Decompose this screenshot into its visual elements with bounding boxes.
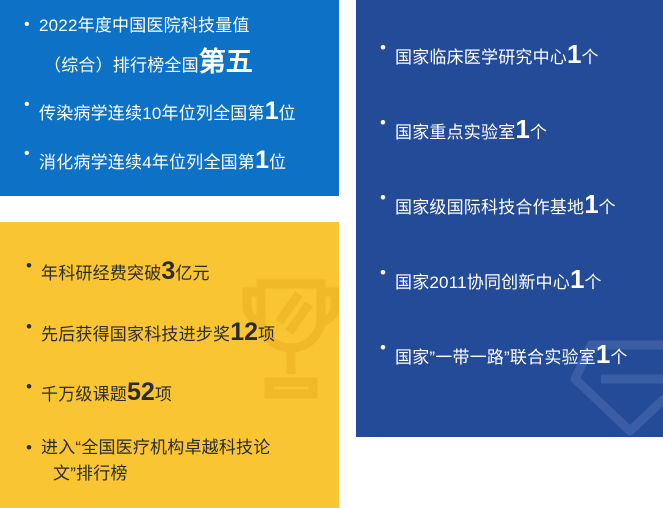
item-text-suffix: 位	[279, 104, 296, 123]
national-platforms-panel: • 国家临床医学研究中心1个 • 国家重点实验室1个 • 国家级国际科技合作基地…	[356, 0, 663, 437]
bullet-icon: •	[380, 36, 386, 60]
item-text-primary: 年科研经费突破	[41, 264, 161, 283]
item-text-suffix: 个	[599, 198, 616, 217]
item-text-primary: 国家”一带一路”联合实验室	[395, 348, 596, 367]
item-text-primary: 国家临床医学研究中心	[395, 48, 567, 67]
bullet-icon: •	[380, 336, 386, 360]
achievements-panel: • 2022年度中国医院科技量值 （综合）排行榜全国第五 • 传染病学连续10年…	[0, 0, 339, 196]
list-item: • 传染病学连续10年位列全国第1位	[22, 94, 339, 130]
item-text-primary: 国家重点实验室	[395, 123, 515, 142]
item-text-primary: 千万级课题	[41, 385, 127, 404]
item-text-suffix: 个	[584, 273, 601, 292]
bullet-icon: •	[24, 94, 30, 117]
item-highlight-value: 12	[230, 318, 258, 346]
list-item: • 进入“全国医疗机构卓越科技论 文”排行榜	[24, 436, 339, 487]
list-item: • 先后获得国家科技进步奖12项	[24, 315, 339, 351]
item-text-primary: 2022年度中国医院科技量值	[39, 16, 250, 35]
item-highlight-value: 1	[584, 189, 598, 219]
list-item: • 千万级课题52项	[24, 375, 339, 411]
list-item: • 消化病学连续4年位列全国第1位	[22, 143, 339, 179]
item-text-primary: 传染病学连续10年位列全国第	[39, 104, 265, 123]
item-text-primary: 国家级国际科技合作基地	[395, 198, 584, 217]
bullet-icon: •	[380, 111, 386, 135]
bullet-icon: •	[26, 436, 32, 460]
bullet-icon: •	[26, 375, 32, 399]
item-text-suffix: 位	[269, 153, 286, 172]
list-item: • 国家”一带一路”联合实验室1个	[378, 336, 663, 373]
research-list: • 年科研经费突破3亿元 • 先后获得国家科技进步奖12项 • 千万级课题52项…	[24, 254, 339, 486]
item-text-primary: 国家2011协同创新中心	[395, 273, 570, 292]
list-item: • 国家重点实验室1个	[378, 111, 663, 148]
research-funding-panel: • 年科研经费突破3亿元 • 先后获得国家科技进步奖12项 • 千万级课题52项…	[0, 222, 339, 508]
bullet-icon: •	[380, 186, 386, 210]
item-text-suffix: 个	[610, 348, 627, 367]
item-highlight-value: 1	[567, 39, 581, 69]
item-highlight-value: 52	[127, 378, 155, 406]
item-text-secondary: 文”排行榜	[41, 462, 339, 486]
list-item: • 国家临床医学研究中心1个	[378, 36, 663, 73]
item-text-secondary: （综合）排行榜全国	[44, 56, 199, 75]
achievements-list: • 2022年度中国医院科技量值 （综合）排行榜全国第五 • 传染病学连续10年…	[22, 14, 339, 178]
list-item: • 国家级国际科技合作基地1个	[378, 186, 663, 223]
item-highlight-value: 1	[570, 264, 584, 294]
bullet-icon: •	[26, 315, 32, 339]
item-text-suffix: 个	[530, 123, 547, 142]
item-text-primary: 先后获得国家科技进步奖	[41, 325, 230, 344]
item-highlight-value: 1	[596, 339, 610, 369]
item-highlight-value: 3	[161, 257, 175, 285]
item-text-suffix: 个	[581, 48, 598, 67]
item-highlight-value: 1	[515, 114, 529, 144]
item-text-suffix: 项	[258, 325, 275, 344]
bullet-icon: •	[26, 254, 32, 278]
item-text-primary: 消化病学连续4年位列全国第	[39, 153, 255, 172]
item-highlight-value: 第五	[199, 47, 253, 77]
bullet-icon: •	[24, 14, 30, 37]
list-item: • 年科研经费突破3亿元	[24, 254, 339, 290]
item-text-suffix: 项	[155, 385, 172, 404]
list-item: • 2022年度中国医院科技量值 （综合）排行榜全国第五	[22, 14, 339, 81]
list-item: • 国家2011协同创新中心1个	[378, 261, 663, 298]
bullet-icon: •	[24, 143, 30, 166]
platforms-list: • 国家临床医学研究中心1个 • 国家重点实验室1个 • 国家级国际科技合作基地…	[378, 36, 663, 373]
item-highlight-value: 1	[265, 97, 279, 125]
item-highlight-value: 1	[255, 146, 269, 174]
item-text-secondary-line: （综合）排行榜全国第五	[39, 43, 339, 81]
item-text-primary: 进入“全国医疗机构卓越科技论	[41, 438, 270, 457]
bullet-icon: •	[380, 261, 386, 285]
item-text-suffix: 亿元	[175, 264, 209, 283]
